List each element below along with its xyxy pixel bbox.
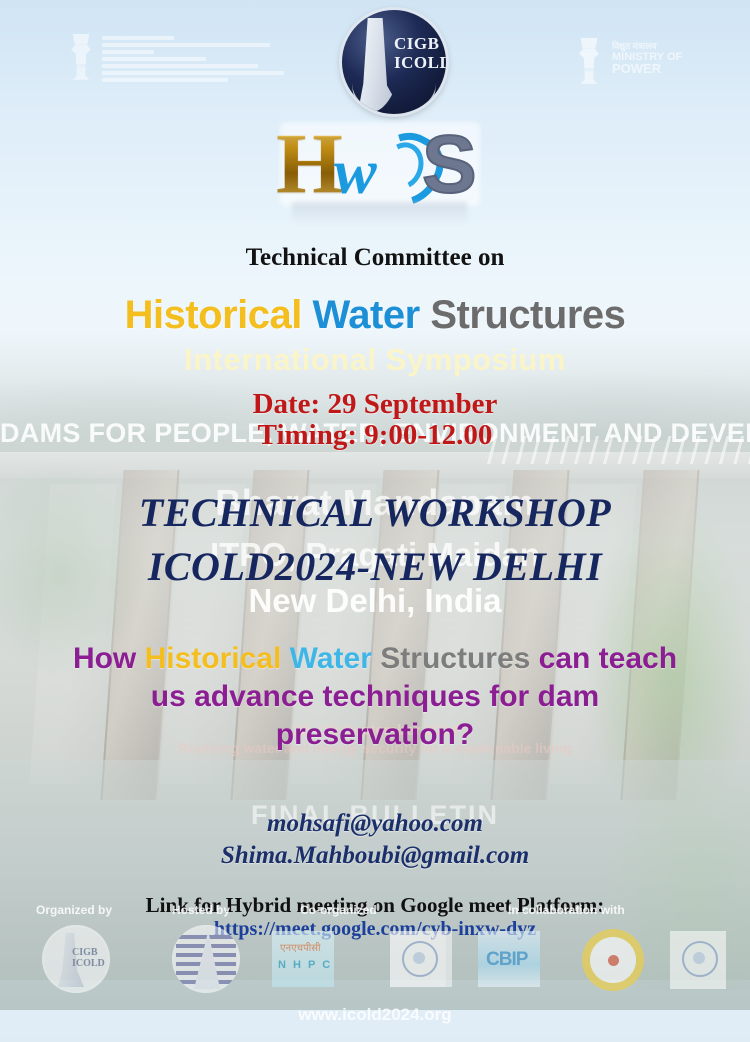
title-word-structures: Structures — [430, 293, 625, 337]
center-dot-icon — [608, 955, 619, 966]
ashoka-pillar-icon — [68, 34, 94, 86]
workshop-title-line2: ICOLD2024-NEW DELHI — [0, 543, 750, 590]
footer-logo-yellow-circular — [582, 929, 644, 991]
footer-logo-nhpc: एनएचपीसी N H P C — [272, 931, 334, 987]
nhpc-hindi-text: एनएचपीसी — [280, 940, 321, 954]
footer-label-organized-by: Organized by — [36, 903, 112, 917]
footer-label-collaboration: In collaboration with — [508, 903, 625, 917]
footer-label-co-organized: Co-organized — [300, 903, 377, 917]
footer-logo-collaborator — [670, 931, 726, 989]
footer-logo-partner-white — [390, 931, 452, 987]
question-line3: preservation? — [0, 716, 750, 754]
nhpc-text: N H P C — [278, 959, 332, 971]
mandala-icon-2 — [682, 941, 718, 977]
title-word-historical: Historical — [125, 293, 302, 337]
poster-canvas: International Symposium DAMS FOR PEOPLE,… — [0, 0, 750, 1042]
footer-icold-cigb: CIGB — [72, 947, 105, 958]
hws-reflection — [292, 202, 467, 224]
contact-email-1[interactable]: mohsafi@yahoo.com — [0, 810, 750, 838]
workshop-title-line1: TECHNICAL WORKSHOP — [0, 489, 750, 536]
footer-logo-cigb-icold: CIGB ICOLD — [42, 925, 110, 993]
question-word-water: Water — [290, 642, 372, 675]
question-word-structures: Structures — [380, 642, 530, 675]
hws-letter-h: H — [276, 120, 343, 206]
partner-logo-strip: CIGB ICOLD एनएचपीसी N H P C — [0, 925, 750, 997]
footer-logo-cbip: CBIP — [478, 931, 540, 987]
footer-icold-icold: ICOLD — [72, 958, 105, 969]
technical-committee-prefix: Technical Committee on — [0, 244, 750, 272]
icold-text-icold: ICOLD — [394, 53, 446, 72]
title-word-water: Water — [313, 293, 420, 337]
hws-letter-s: S — [422, 124, 477, 206]
question-line1: How Historical Water Structures can teac… — [0, 640, 750, 678]
ministry-of-power-emblem: विद्युत मंत्रालय MINISTRY OF POWER — [576, 38, 736, 96]
question-line2: us advance techniques for dam — [0, 678, 750, 716]
ministry-of-power-label: विद्युत मंत्रालय MINISTRY OF POWER — [612, 41, 682, 74]
event-time: Timing: 9:00-12.00 — [0, 419, 750, 452]
footer-label-hosted-by: Hosted by — [172, 903, 230, 917]
emblem-text-lines — [102, 36, 284, 85]
hws-logo: H w S — [262, 118, 492, 218]
ministry-line2: POWER — [612, 63, 682, 74]
session-question: How Historical Water Structures can teac… — [0, 640, 750, 754]
contact-email-2[interactable]: Shima.Mahboubi@gmail.com — [0, 842, 750, 870]
question-text-how: How — [73, 642, 145, 675]
page-title: Historical Water Structures — [0, 293, 750, 338]
question-word-historical: Historical — [145, 642, 282, 675]
ashoka-pillar-icon-right — [576, 38, 602, 90]
government-of-india-emblem — [68, 34, 318, 96]
footer-logo-cwc-dam — [172, 925, 240, 993]
footer-icold-text: CIGB ICOLD — [72, 947, 105, 969]
mandala-icon — [402, 941, 438, 977]
event-date: Date: 29 September — [0, 388, 750, 421]
question-space-2 — [372, 642, 380, 675]
icold-text-cigb: CIGB — [394, 34, 446, 53]
question-text-canteach: can teach — [530, 642, 677, 675]
question-space-1 — [281, 642, 289, 675]
cbip-text: CBIP — [486, 949, 527, 971]
icold-logo-text: CIGB ICOLD — [394, 34, 446, 72]
cigb-icold-logo: CIGB ICOLD — [342, 10, 446, 114]
